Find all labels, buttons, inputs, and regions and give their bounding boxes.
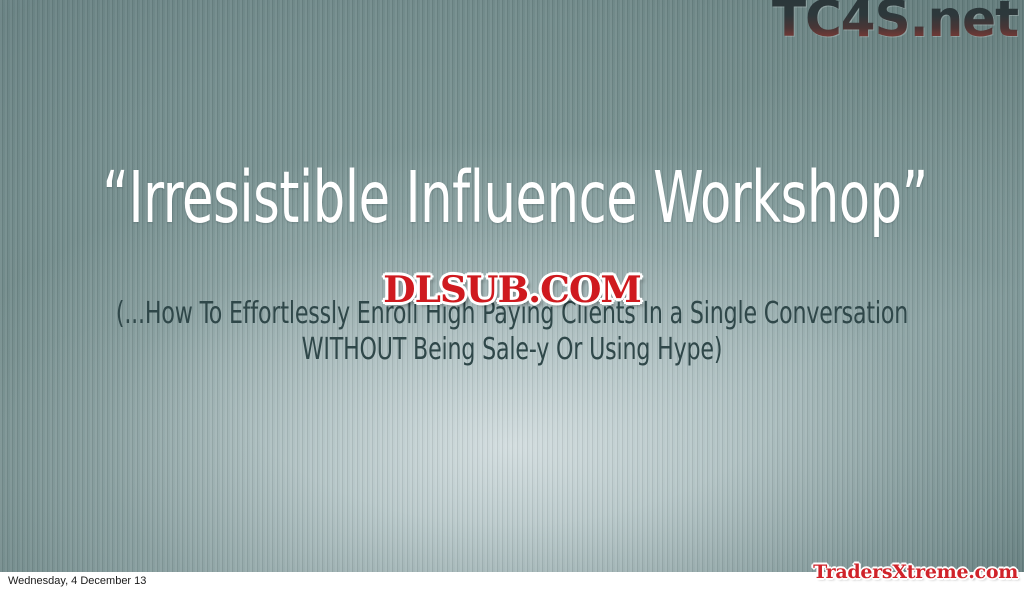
slide-canvas: TC4S.net “Irresistible Influence Worksho… bbox=[0, 0, 1024, 572]
dlsub-watermark: DLSUB.COM bbox=[383, 272, 641, 308]
footer-date: Wednesday, 4 December 13 bbox=[8, 575, 146, 587]
tradersxtreme-watermark: TradersXtreme.com bbox=[813, 563, 1018, 582]
slide-subtitle-line-2: WITHOUT Being Sale-y Or Using Hype) bbox=[92, 332, 932, 368]
presentation-screenshot: TC4S.net “Irresistible Influence Worksho… bbox=[0, 0, 1024, 592]
slide-title: “Irresistible Influence Workshop” bbox=[102, 160, 921, 237]
tc4s-logo: TC4S.net bbox=[772, 0, 1018, 44]
